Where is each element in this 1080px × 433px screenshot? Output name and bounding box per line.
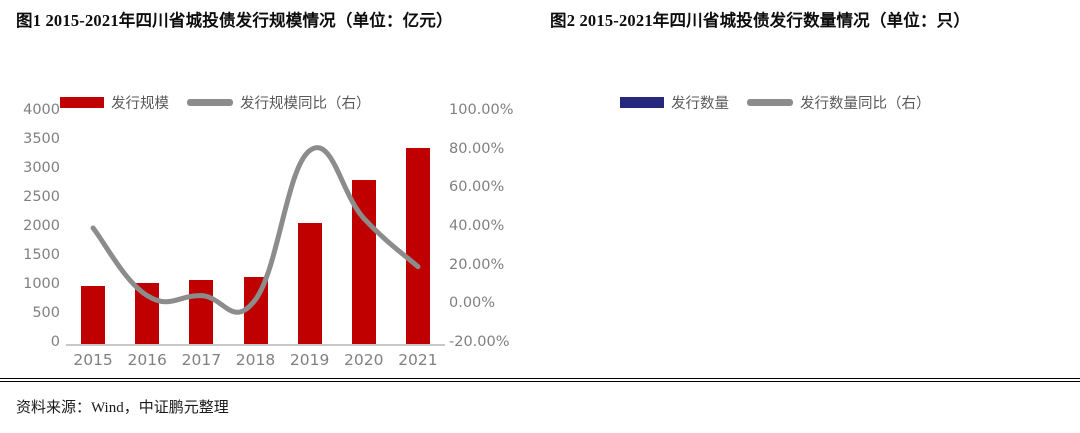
- y-axis-tick-label: 3000: [23, 160, 60, 176]
- legend-bar-swatch-icon: [60, 97, 104, 108]
- x-axis-tick-label: 2019: [280, 351, 340, 369]
- legend-label-line: 发行规模同比（右）: [240, 92, 371, 113]
- figure-1-source: 资料来源：Wind，中证鹏元整理: [16, 396, 229, 417]
- y-axis-tick-label: 500: [32, 305, 60, 321]
- source-divider: [0, 378, 1080, 382]
- figure-1-legend: 发行规模 发行规模同比（右）: [60, 92, 371, 113]
- figure-1-plot: 05001000150020002500300035004000-20.00%0…: [66, 112, 445, 344]
- figure-2-legend: 发行数量 发行数量同比（右）: [620, 92, 931, 113]
- x-axis-tick-label: 2015: [63, 351, 123, 369]
- y-axis-tick-label: 1000: [23, 276, 60, 292]
- y-axis-tick-label: 1500: [23, 247, 60, 263]
- figure-2-title: 图2 2015-2021年四川省城投债发行数量情况（单位：只）: [550, 0, 1050, 33]
- legend-bar-swatch-icon: [620, 97, 664, 108]
- secondary-y-axis-tick-label: -20.00%: [449, 334, 510, 350]
- secondary-y-axis-tick-label: 0.00%: [449, 295, 495, 311]
- y-axis-tick-label: 4000: [23, 102, 60, 118]
- secondary-y-axis-tick-label: 80.00%: [449, 141, 504, 157]
- figure-panel-2: 图2 2015-2021年四川省城投债发行数量情况（单位：只） 发行数量 发行数…: [540, 0, 1080, 433]
- line-series: [66, 112, 445, 344]
- legend-label-line: 发行数量同比（右）: [800, 92, 931, 113]
- y-axis-tick-label: 0: [51, 334, 60, 350]
- legend-line-swatch-icon: [747, 99, 793, 106]
- figure-panel-1: 图1 2015-2021年四川省城投债发行规模情况（单位：亿元） 发行规模 发行…: [0, 0, 540, 433]
- secondary-y-axis-tick-label: 20.00%: [449, 257, 504, 273]
- legend-line-swatch-icon: [187, 99, 233, 106]
- legend-item-line: 发行数量同比（右）: [747, 92, 931, 113]
- figures-container: 图1 2015-2021年四川省城投债发行规模情况（单位：亿元） 发行规模 发行…: [0, 0, 1080, 433]
- secondary-y-axis-tick-label: 60.00%: [449, 179, 504, 195]
- figure-1-title: 图1 2015-2021年四川省城投债发行规模情况（单位：亿元）: [16, 0, 516, 33]
- x-axis-baseline: [66, 344, 445, 346]
- secondary-y-axis-tick-label: 100.00%: [449, 102, 514, 118]
- x-axis-tick-label: 2016: [117, 351, 177, 369]
- legend-item-bar: 发行数量: [620, 92, 729, 113]
- x-axis-tick-label: 2018: [226, 351, 286, 369]
- legend-label-bar: 发行数量: [671, 92, 729, 113]
- legend-item-bar: 发行规模: [60, 92, 169, 113]
- legend-label-bar: 发行规模: [111, 92, 169, 113]
- figure-2-chart: 发行数量 发行数量同比（右） 0100200300400500-20.00%0.…: [540, 82, 1080, 367]
- y-axis-tick-label: 2000: [23, 218, 60, 234]
- legend-item-line: 发行规模同比（右）: [187, 92, 371, 113]
- x-axis-tick-label: 2020: [334, 351, 394, 369]
- figure-1-chart: 发行规模 发行规模同比（右） 0500100015002000250030003…: [0, 82, 540, 367]
- x-axis-tick-label: 2017: [171, 351, 231, 369]
- x-axis-tick-label: 2021: [388, 351, 448, 369]
- y-axis-tick-label: 3500: [23, 131, 60, 147]
- secondary-y-axis-tick-label: 40.00%: [449, 218, 504, 234]
- y-axis-tick-label: 2500: [23, 189, 60, 205]
